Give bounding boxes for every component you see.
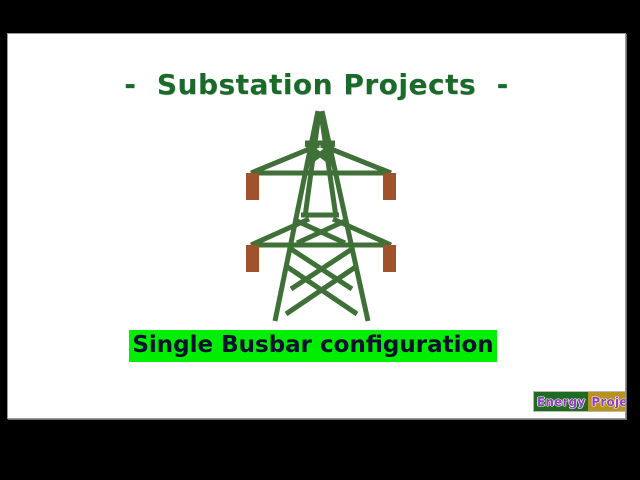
insulator-blocks [246, 173, 396, 272]
slide-panel: - Substation Projects - [7, 33, 626, 419]
screen-letterbox: - Substation Projects - [0, 0, 640, 480]
pylon-illustration [205, 99, 451, 339]
page-title: - Substation Projects - [8, 68, 625, 101]
energy-projects-logo: Energy Projects [533, 391, 626, 412]
logo-projects-text: Projects [588, 392, 626, 411]
transmission-tower-pylon-graphic [205, 99, 451, 339]
logo-energy-text: Energy [534, 392, 588, 411]
caption-highlight-band: Single Busbar configuration [129, 330, 497, 362]
caption-text: Single Busbar configuration [129, 330, 497, 362]
